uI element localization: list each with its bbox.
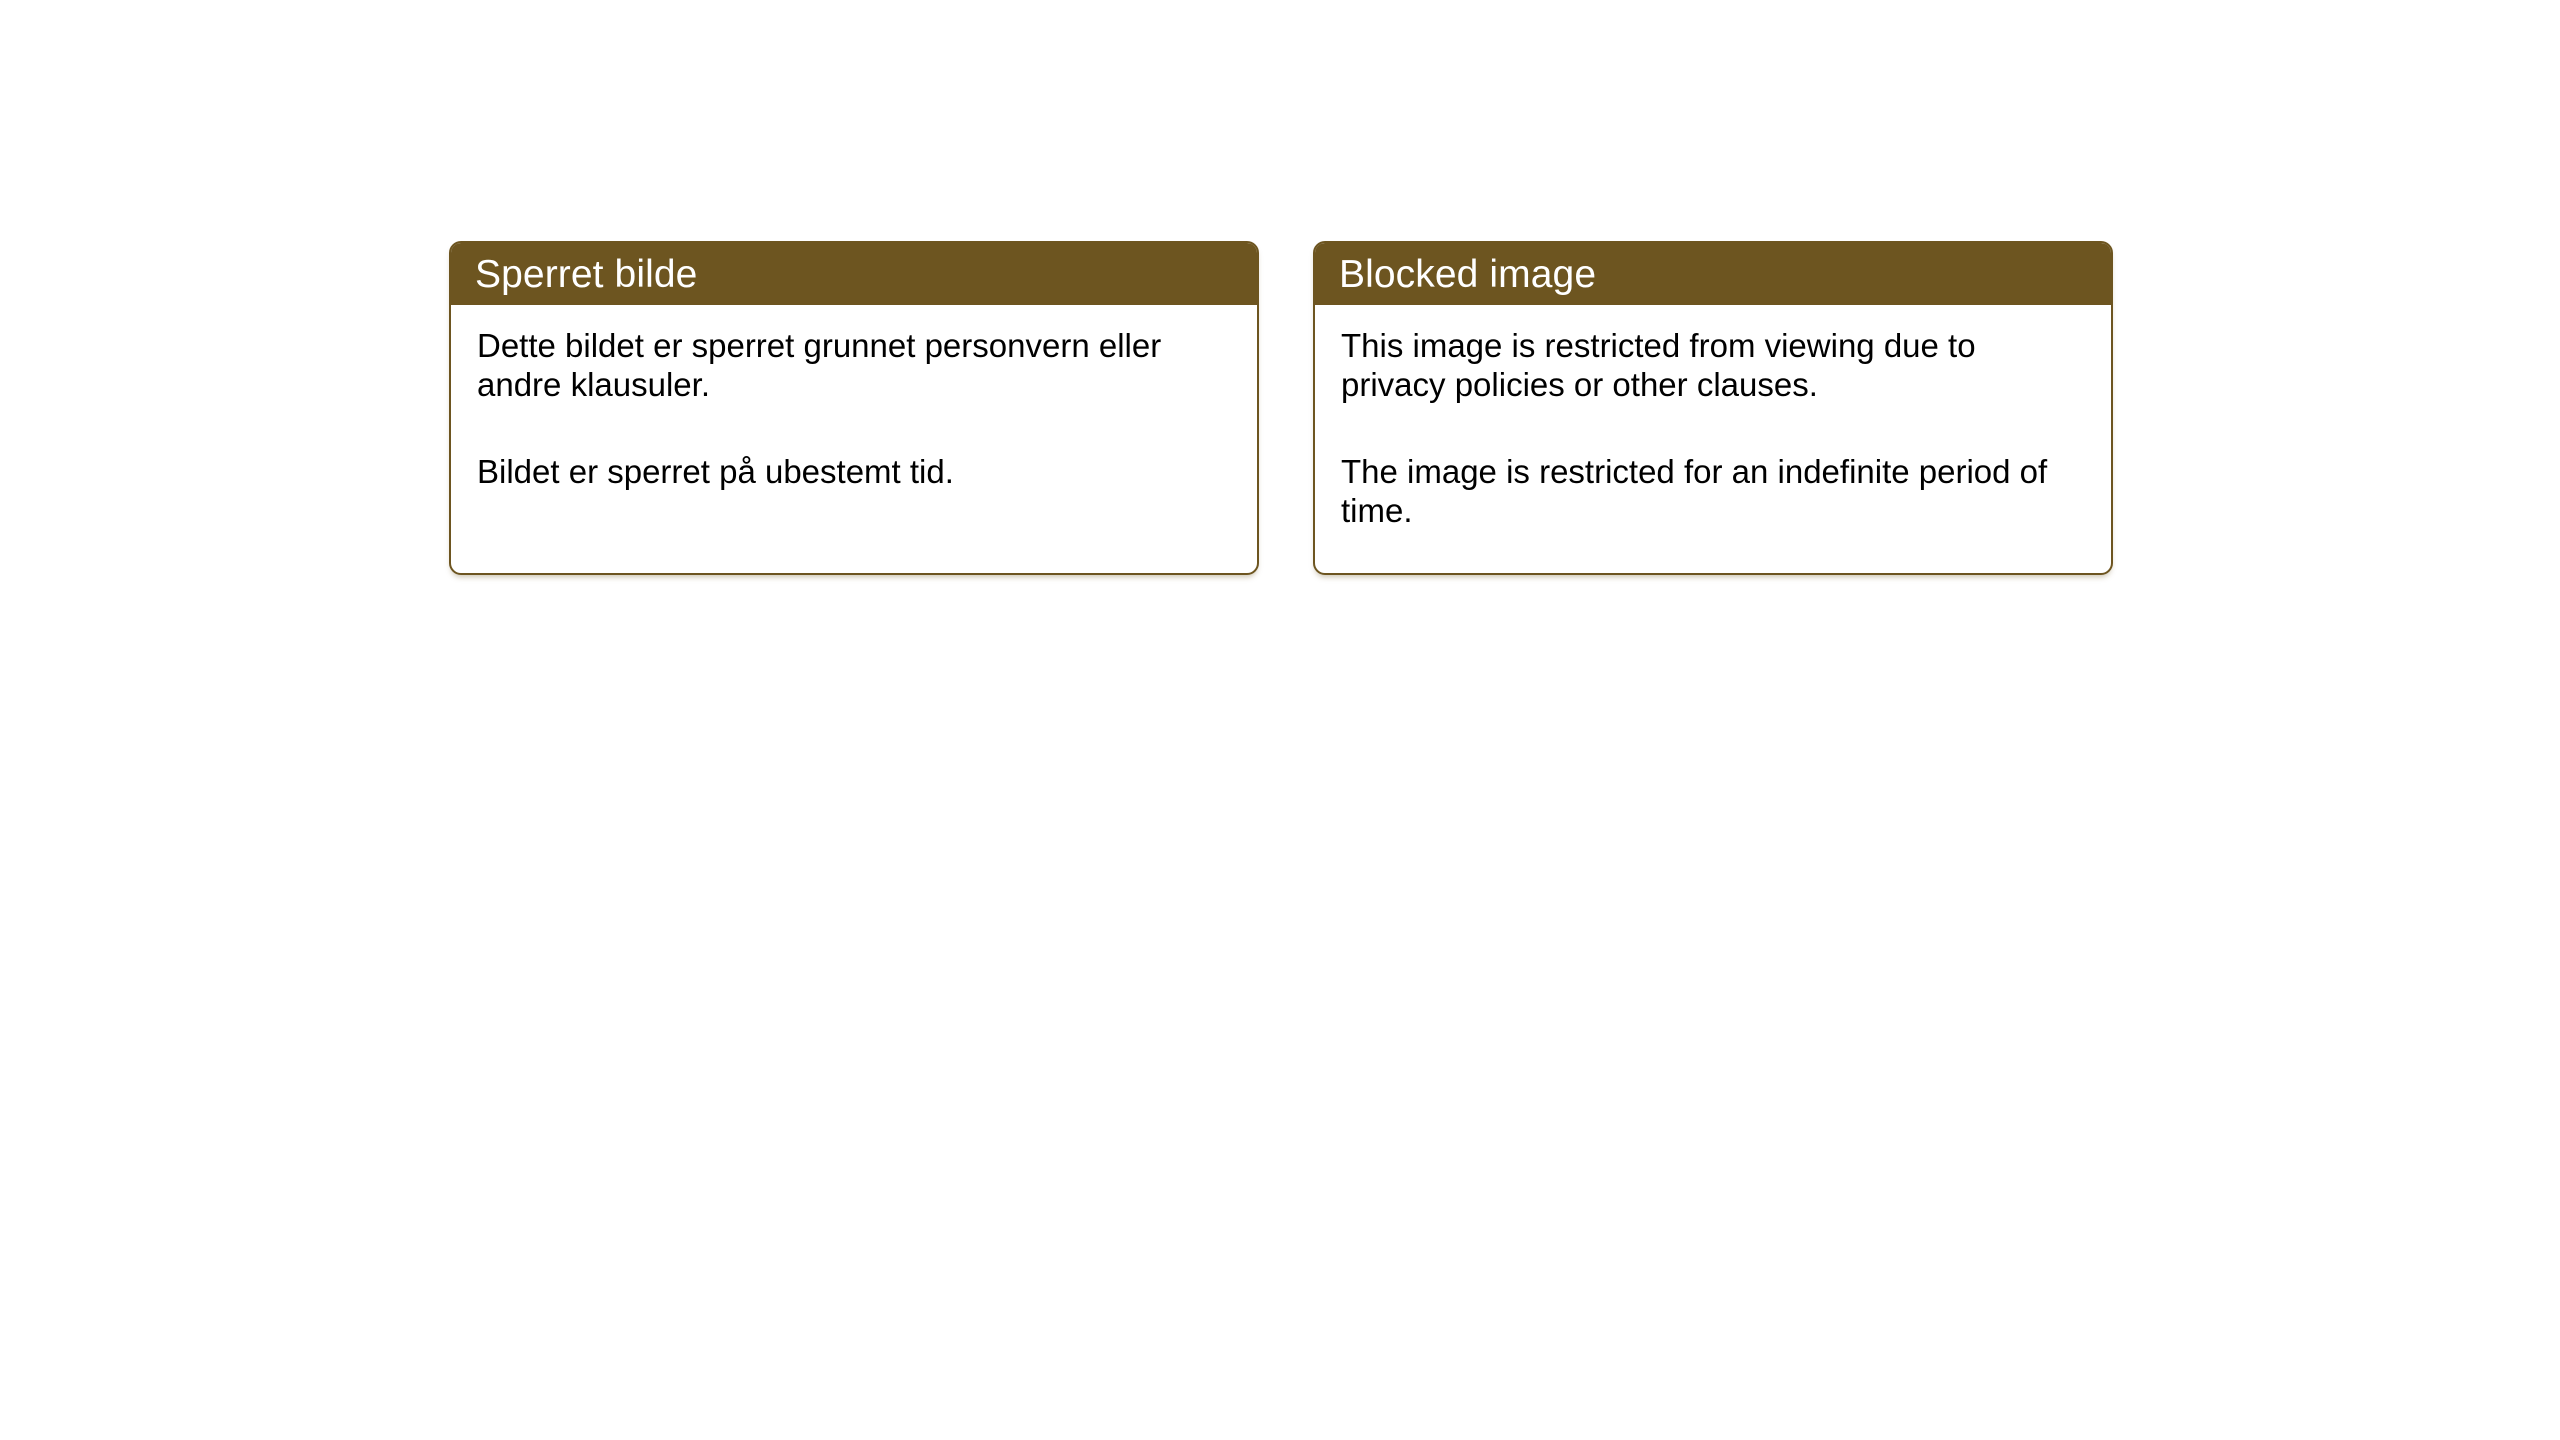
card-title-english: Blocked image — [1339, 255, 1596, 294]
card-paragraph-norwegian-2: Bildet er sperret på ubestemt tid. — [477, 453, 1231, 492]
card-paragraph-english-1: This image is restricted from viewing du… — [1341, 327, 2085, 405]
card-header-english: Blocked image — [1315, 243, 2111, 305]
page-canvas: Sperret bilde Dette bildet er sperret gr… — [0, 0, 2560, 1440]
card-title-norwegian: Sperret bilde — [475, 255, 697, 294]
card-header-norwegian: Sperret bilde — [451, 243, 1257, 305]
blocked-image-notice-english: Blocked image This image is restricted f… — [1313, 241, 2113, 575]
card-body-norwegian: Dette bildet er sperret grunnet personve… — [451, 305, 1257, 512]
blocked-image-notice-norwegian: Sperret bilde Dette bildet er sperret gr… — [449, 241, 1259, 575]
card-body-english: This image is restricted from viewing du… — [1315, 305, 2111, 551]
card-paragraph-english-2: The image is restricted for an indefinit… — [1341, 453, 2085, 531]
card-paragraph-norwegian-1: Dette bildet er sperret grunnet personve… — [477, 327, 1231, 405]
